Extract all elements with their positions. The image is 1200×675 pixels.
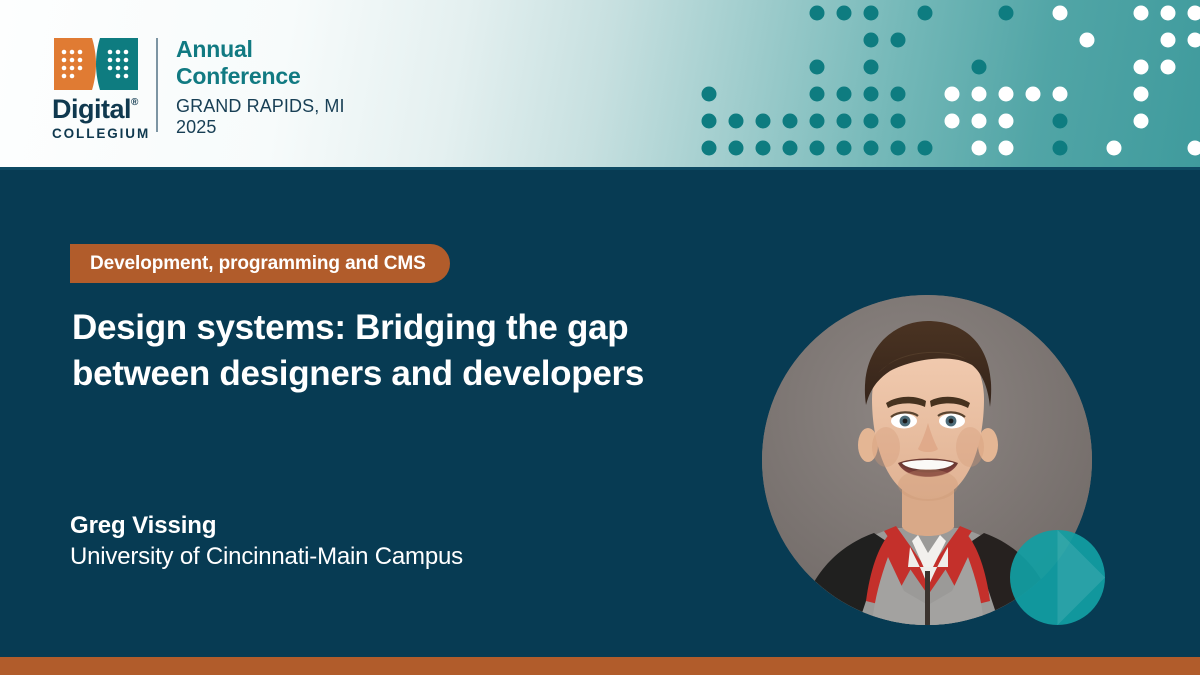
brand-logo-block: Digital® COLLEGIUM Annual Conference GRA… <box>52 36 345 141</box>
event-location: GRAND RAPIDS, MI <box>176 96 345 117</box>
conference-session-slide: Digital® COLLEGIUM Annual Conference GRA… <box>0 0 1200 675</box>
event-title-line1: Annual <box>176 36 345 63</box>
event-year: 2025 <box>176 117 345 138</box>
slide-body: Development, programming and CMS Design … <box>0 170 1200 657</box>
speaker-block: Greg Vissing University of Cincinnati-Ma… <box>70 510 463 572</box>
event-info-block: Annual Conference GRAND RAPIDS, MI 2025 <box>176 36 345 138</box>
logo-wordmark: Digital® <box>52 96 140 123</box>
speaker-portrait-wrap <box>762 295 1092 625</box>
event-title-line2: Conference <box>176 63 345 90</box>
registered-trademark-icon: ® <box>131 97 138 108</box>
accent-circle-wedge-icon <box>1010 530 1105 625</box>
accent-circle <box>1010 530 1105 625</box>
category-badge: Development, programming and CMS <box>70 244 450 283</box>
footer-accent-bar <box>0 657 1200 675</box>
session-title: Design systems: Bridging the gap between… <box>72 305 692 397</box>
logo-subword: COLLEGIUM <box>52 127 140 141</box>
logo-wordmark-text: Digital <box>52 94 131 124</box>
speaker-organization: University of Cincinnati-Main Campus <box>70 541 463 572</box>
logo-divider <box>156 38 158 132</box>
speaker-name: Greg Vissing <box>70 510 463 541</box>
slide-header: Digital® COLLEGIUM Annual Conference GRA… <box>0 0 1200 170</box>
digital-collegium-logo-mark <box>52 36 140 92</box>
logo-left-column: Digital® COLLEGIUM <box>52 36 140 141</box>
